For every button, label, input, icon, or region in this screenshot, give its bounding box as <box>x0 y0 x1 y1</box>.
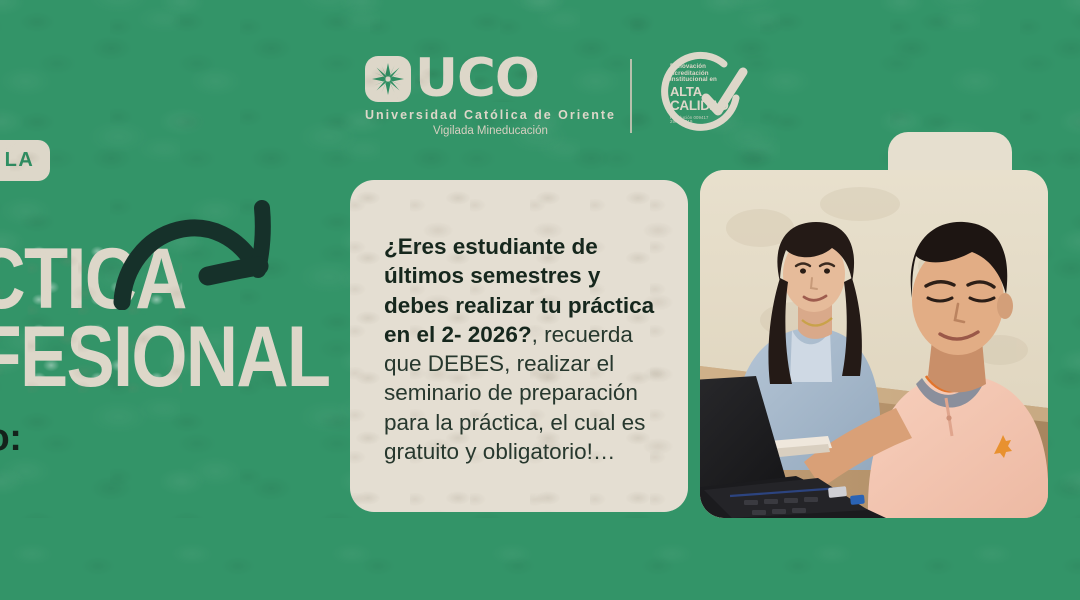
seal-line-3: Institucional en <box>670 77 732 84</box>
lockup-divider <box>630 59 632 133</box>
accreditation-seal: Renovación Acreditación Institucional en… <box>648 48 748 144</box>
compass-star-icon <box>365 56 411 102</box>
uco-wordmark-row: UCO <box>365 56 539 102</box>
seminar-date: 2026 <box>0 466 250 505</box>
seal-resolution: Resolución 009417 29/05/2019 <box>670 116 732 125</box>
bottom-strip <box>0 518 1080 600</box>
seal-highlight-alta: ALTA <box>670 85 732 99</box>
uco-logo-lockup: UCO Universidad Católica de Oriente Vigi… <box>365 48 715 144</box>
card-copy: ¿Eres estudiante de últimos semestres y … <box>384 232 660 466</box>
students-photo-card <box>700 170 1048 518</box>
uco-logo: UCO Universidad Católica de Oriente Vigi… <box>365 56 616 137</box>
uco-wordmark: UCO <box>415 56 539 102</box>
poster-canvas: UCO Universidad Católica de Oriente Vigi… <box>0 0 1080 600</box>
photo-clip <box>700 170 1048 518</box>
uco-legal-line: Vigilada Mineducación <box>365 125 616 137</box>
uco-full-name: Universidad Católica de Oriente <box>365 108 616 122</box>
headline-line-2: PROFESIONAL <box>0 321 182 393</box>
seal-highlight-calidad: CALIDAD <box>670 99 732 114</box>
seal-text-group: Renovación Acreditación Institucional en… <box>670 64 732 125</box>
seminar-label: Seminario: <box>0 417 250 460</box>
info-text-card: ¿Eres estudiante de últimos semestres y … <box>350 180 688 512</box>
students-photo <box>700 170 1048 518</box>
eyebrow-badge: INDUCCIÓN A LA <box>0 140 50 181</box>
curved-arrow-right-icon <box>112 190 292 310</box>
